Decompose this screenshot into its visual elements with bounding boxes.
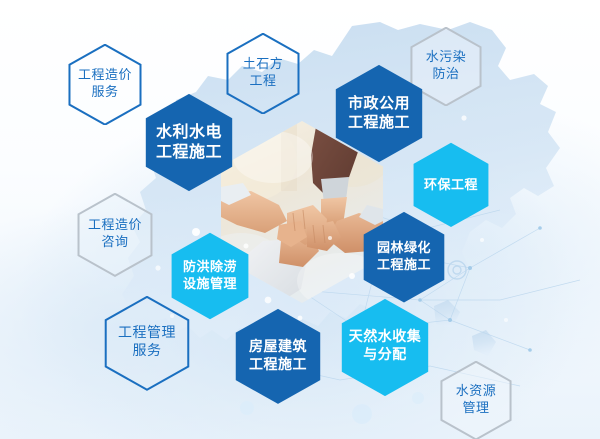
hexagon-engineering-management-service[interactable]: 工程管理服务: [104, 296, 190, 388]
hexagon-label: 环保工程: [424, 177, 478, 194]
hexagon-label-line: 工程施工: [377, 257, 431, 274]
hexagon-label-line: 防洪除涝: [183, 259, 237, 276]
hexagon-label: 工程造价服务: [78, 67, 132, 100]
hexagon-building-construction-engineering[interactable]: 房屋建筑工程施工: [234, 308, 322, 404]
hexagon-municipal-public-works-construction[interactable]: 市政公用工程施工: [334, 64, 424, 162]
hexagon-water-conservancy-hydropower-construction[interactable]: 水利水电工程施工: [144, 93, 234, 193]
hexagon-natural-water-collection-distribution[interactable]: 天然水收集与分配: [340, 298, 430, 394]
hexagon-landscaping-engineering-construction[interactable]: 园林绿化工程施工: [362, 211, 446, 303]
hexagon-earthwork-engineering[interactable]: 土石方工程: [226, 33, 300, 113]
hexagon-label-line: 土石方: [243, 56, 284, 73]
hexagon-label: 市政公用工程施工: [348, 94, 410, 132]
hexagon-label-line: 天然水收集: [349, 328, 422, 346]
hexagon-label-line: 服务: [78, 84, 132, 101]
hexagon-engineering-cost-service[interactable]: 工程造价服务: [68, 44, 142, 124]
hexagon-label-line: 防治: [426, 66, 467, 83]
hexagon-label: 土石方工程: [243, 56, 284, 89]
hexagon-label-line: 市政公用: [348, 94, 410, 113]
hexagon-label-line: 工程造价: [78, 67, 132, 84]
hexagon-label: 天然水收集与分配: [349, 328, 422, 364]
hexagon-label-line: 水污染: [426, 49, 467, 66]
hexagon-water-resources-management[interactable]: 水资源管理: [440, 361, 512, 439]
hexagon-label-line: 水利水电: [156, 123, 222, 143]
hexagon-label-line: 房屋建筑: [249, 338, 307, 356]
hexagon-label-line: 工程: [243, 73, 284, 90]
hexagon-label: 园林绿化工程施工: [377, 240, 431, 273]
hexagon-engineering-cost-consulting[interactable]: 工程造价咨询: [77, 193, 153, 275]
hexagon-label: 房屋建筑工程施工: [249, 338, 307, 374]
hexagon-label-line: 管理: [456, 400, 497, 417]
hexagon-label-line: 工程施工: [348, 113, 410, 132]
hexagon-label-line: 园林绿化: [377, 240, 431, 257]
hexagon-label-line: 水资源: [456, 383, 497, 400]
infographic-canvas: 工程造价服务土石方工程水污染防治水利水电工程施工市政公用工程施工环保工程工程造价…: [0, 0, 600, 439]
hexagon-label-line: 工程管理: [118, 324, 176, 342]
hexagon-label: 工程管理服务: [118, 324, 176, 360]
hexagon-label-line: 服务: [118, 342, 176, 360]
hexagon-label-line: 工程造价: [88, 217, 142, 234]
hexagon-label-line: 工程施工: [249, 356, 307, 374]
hexagon-label-line: 工程施工: [156, 143, 222, 163]
hexagon-label: 工程造价咨询: [88, 217, 142, 250]
hexagon-label: 水资源管理: [456, 383, 497, 416]
hexagon-label-line: 设施管理: [183, 276, 237, 293]
hexagon-label-line: 环保工程: [424, 177, 478, 194]
hexagon-label-line: 与分配: [349, 346, 422, 364]
hexagon-label: 防洪除涝设施管理: [183, 259, 237, 292]
hexagon-label-line: 咨询: [88, 234, 142, 251]
hexagon-label: 水污染防治: [426, 49, 467, 82]
hexagon-label: 水利水电工程施工: [156, 123, 222, 164]
